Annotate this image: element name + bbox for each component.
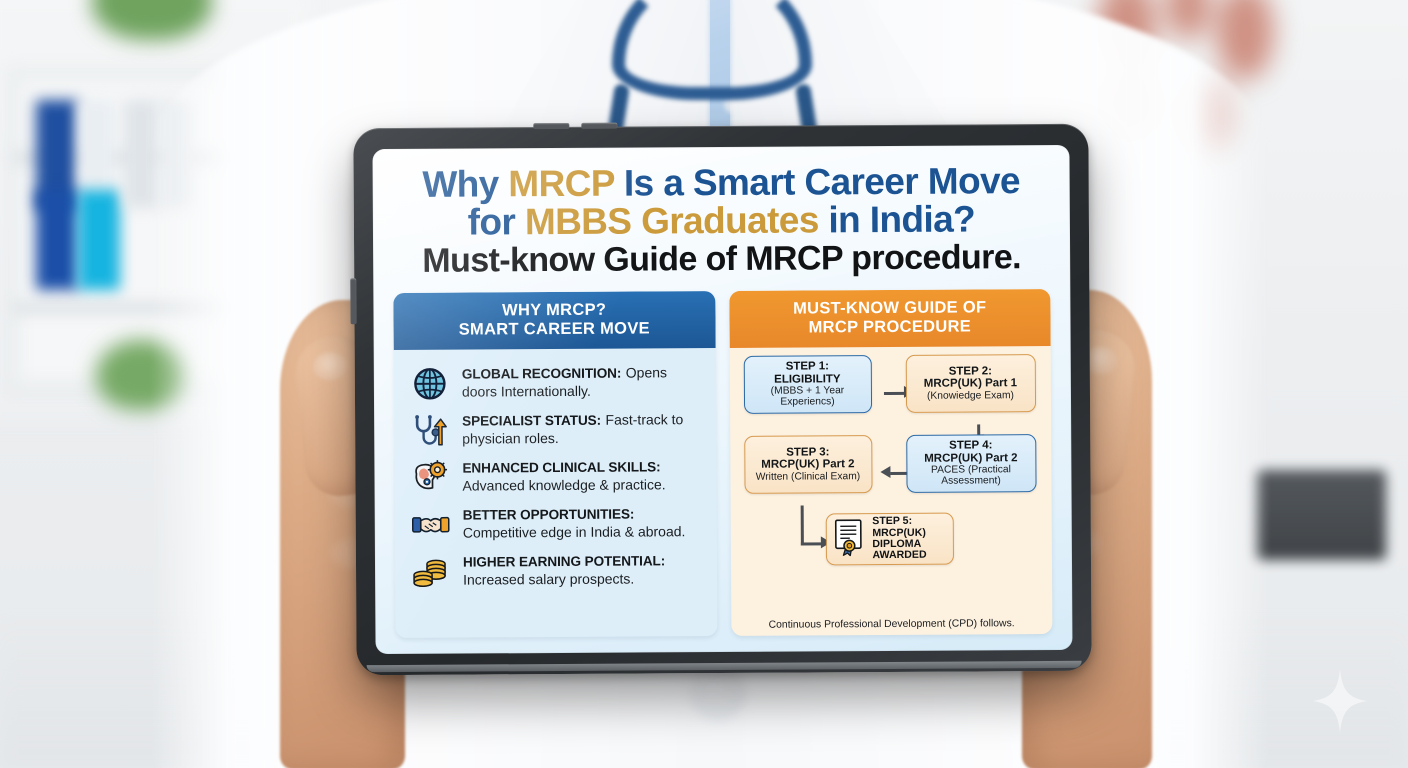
handshake-icon	[411, 504, 451, 544]
ai-sparkle-icon	[1312, 668, 1368, 734]
tablet-bottom-edge	[367, 661, 1082, 672]
benefit-title: ENHANCED CLINICAL SKILLS:	[462, 459, 660, 475]
title-word-mbbs-graduates: MBBS Graduates	[525, 200, 819, 243]
benefit-title: BETTER OPPORTUNITIES:	[463, 506, 635, 522]
flow-node-step3[interactable]: STEP 3: MRCP(UK) Part 2 Written (Clinica…	[744, 435, 872, 494]
title-line-2-tail: in India?	[819, 199, 976, 241]
benefit-desc: Competitive edge in India & abroad.	[463, 523, 686, 540]
panel-why-mrcp-header: WHY MRCP? SMART CAREER MOVE	[393, 291, 715, 350]
benefit-title: SPECIALIST STATUS:	[462, 413, 601, 429]
panel-why-mrcp-header-line1: WHY MRCP?	[399, 300, 709, 321]
mrcp-flowchart: STEP 1: ELIGIBILITY (MBBS + 1 Year Exper…	[729, 346, 1052, 636]
flow-node-step2[interactable]: STEP 2: MRCP(UK) Part 1 (Knowiedge Exam)	[905, 354, 1035, 413]
benefit-desc: Advanced knowledge & practice.	[462, 476, 665, 493]
list-item: BETTER OPPORTUNITIES: Competitive edge i…	[411, 503, 705, 545]
panel-mrcp-procedure-header-line2: MRCP PROCEDURE	[735, 317, 1045, 338]
step2-heading: STEP 2:	[911, 365, 1029, 378]
panel-why-mrcp-header-line2: SMART CAREER MOVE	[400, 319, 710, 340]
binder-cyan	[78, 190, 120, 290]
title-word-why: Why	[422, 163, 508, 205]
monitor	[1256, 470, 1386, 560]
stethoscope-arrow-icon	[410, 410, 450, 450]
step2-subheading: MRCP(UK) Part 1	[911, 377, 1029, 390]
step3-detail: Written (Clinical Exam)	[750, 471, 866, 483]
flow-node-step4[interactable]: STEP 4: MRCP(UK) Part 2 PACES (Practical…	[906, 434, 1036, 493]
step2-detail: (Knowiedge Exam)	[911, 390, 1029, 402]
list-item: GLOBAL RECOGNITION: Opens doors Internat…	[410, 362, 704, 404]
title-word-for: for	[468, 201, 525, 242]
panel-why-mrcp: WHY MRCP? SMART CAREER MOVE	[393, 291, 717, 638]
panel-mrcp-procedure-header-line1: MUST-KNOW GUIDE OF	[735, 298, 1045, 319]
page-title: Why MRCP Is a Smart Career Move for MBBS…	[393, 162, 1051, 279]
list-item: HIGHER EARNING POTENTIAL: Increased sala…	[411, 550, 705, 592]
brain-gear-icon	[410, 457, 450, 497]
step1-subheading: ELIGIBILITY	[749, 373, 865, 386]
tablet-screen[interactable]: Why MRCP Is a Smart Career Move for MBBS…	[372, 145, 1072, 654]
step1-detail: (MBBS + 1 Year Experiencs)	[749, 385, 865, 408]
title-line-2: for MBBS Graduates in India?	[393, 200, 1050, 242]
step3-subheading: MRCP(UK) Part 2	[750, 458, 866, 471]
step4-detail: PACES (Practical Assessment)	[912, 464, 1030, 487]
step5-heading: STEP 5: MRCP(UK) DIPLOMA AWARDED	[872, 516, 946, 561]
binder-blue	[36, 190, 78, 290]
stethoscope-icon	[612, 0, 812, 100]
benefit-title: GLOBAL RECOGNITION:	[462, 365, 622, 381]
content-panels: WHY MRCP? SMART CAREER MOVE	[393, 289, 1052, 638]
step3-heading: STEP 3:	[750, 446, 866, 459]
benefit-title: HIGHER EARNING POTENTIAL:	[463, 553, 665, 569]
power-button[interactable]	[350, 278, 356, 324]
coins-icon	[411, 551, 451, 591]
tablet-device[interactable]: Why MRCP Is a Smart Career Move for MBBS…	[353, 124, 1091, 675]
volume-down-button[interactable]	[581, 123, 617, 129]
panel-mrcp-procedure: MUST-KNOW GUIDE OF MRCP PROCEDURE	[729, 289, 1053, 636]
step4-heading: STEP 4:	[912, 439, 1030, 452]
benefit-desc: Increased salary prospects.	[463, 570, 634, 587]
title-line-1-tail: Is a Smart Career Move	[614, 160, 1020, 203]
list-item: SPECIALIST STATUS: Fast-track to physici…	[410, 409, 704, 451]
list-item: ENHANCED CLINICAL SKILLS: Advanced knowl…	[410, 456, 704, 498]
globe-icon	[410, 363, 450, 403]
panel-mrcp-procedure-header: MUST-KNOW GUIDE OF MRCP PROCEDURE	[729, 289, 1051, 348]
flow-node-step5[interactable]: STEP 5: MRCP(UK) DIPLOMA AWARDED	[825, 512, 953, 565]
cpd-footnote: Continuous Professional Development (CPD…	[731, 618, 1053, 631]
diploma-certificate-icon	[832, 518, 866, 561]
coat-button	[690, 665, 746, 721]
flow-node-step1[interactable]: STEP 1: ELIGIBILITY (MBBS + 1 Year Exper…	[743, 355, 871, 414]
step4-subheading: MRCP(UK) Part 2	[912, 452, 1030, 465]
volume-up-button[interactable]	[533, 123, 569, 129]
benefit-list: GLOBAL RECOGNITION: Opens doors Internat…	[394, 348, 717, 602]
title-subtitle: Must-know Guide of MRCP procedure.	[393, 240, 1050, 279]
step1-heading: STEP 1:	[749, 360, 865, 373]
title-word-mrcp: MRCP	[508, 163, 614, 205]
